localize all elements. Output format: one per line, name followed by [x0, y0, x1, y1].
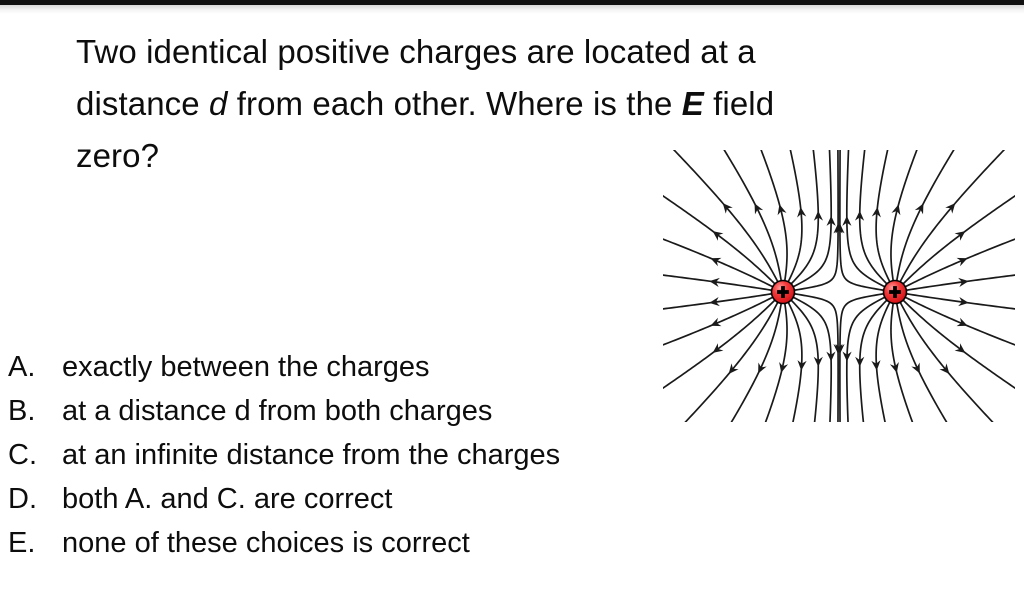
answer-choice-a[interactable]: A. exactly between the charges	[8, 345, 708, 389]
choice-text-d: both A. and C. are correct	[62, 477, 392, 521]
choice-text-c: at an infinite distance from the charges	[62, 433, 560, 477]
field-line	[723, 150, 781, 280]
field-line	[847, 150, 885, 287]
question-line-2-part-2: from each other. Where is the	[227, 85, 681, 122]
question-line-2: distance d from each other. Where is the…	[76, 78, 956, 130]
field-line	[897, 150, 955, 280]
positive-charge-left	[772, 281, 795, 304]
field-arrow-head	[911, 362, 924, 375]
choice-letter-c: C.	[8, 433, 62, 477]
field-arrow-head	[892, 203, 904, 215]
answer-choice-e[interactable]: E. none of these choices is correct	[8, 521, 708, 565]
field-line	[891, 150, 918, 280]
variable-E: E	[682, 85, 704, 122]
choice-text-b: at a distance d from both charges	[62, 389, 492, 433]
field-arrow-head	[750, 201, 763, 214]
slide-canvas: Two identical positive charges are locat…	[0, 0, 1024, 597]
positive-charge-right	[884, 281, 907, 304]
field-line	[663, 300, 775, 389]
field-line	[900, 150, 1006, 281]
field-arrow-head	[754, 362, 767, 375]
answer-choice-d[interactable]: D. both A. and C. are correct	[8, 477, 708, 521]
field-arrow-head	[915, 201, 928, 214]
choice-text-e: none of these choices is correct	[62, 521, 470, 565]
field-line	[794, 297, 832, 422]
field-line	[672, 150, 778, 281]
electric-field-diagram	[663, 150, 1015, 422]
top-gradient-shade	[0, 5, 1024, 14]
field-arrow-head	[957, 254, 970, 266]
field-arrow-head	[709, 254, 722, 266]
question-line-2-part-1: distance	[76, 85, 209, 122]
field-line	[788, 150, 801, 281]
question-line-2-part-3: field	[704, 85, 774, 122]
field-line	[760, 150, 787, 280]
choice-letter-b: B.	[8, 389, 62, 433]
choice-letter-e: E.	[8, 521, 62, 565]
field-line	[794, 150, 832, 287]
answer-choice-b[interactable]: B. at a distance d from both charges	[8, 389, 708, 433]
field-arrow-head	[957, 318, 970, 330]
field-line	[876, 150, 889, 281]
field-arrow-head	[775, 203, 787, 215]
field-arrow-head	[709, 318, 722, 330]
choice-letter-d: D.	[8, 477, 62, 521]
variable-d: d	[209, 85, 227, 122]
answer-choice-list: A. exactly between the charges B. at a d…	[8, 345, 708, 565]
field-line	[847, 297, 885, 422]
choice-letter-a: A.	[8, 345, 62, 389]
field-lines-group	[663, 150, 1015, 422]
question-line-1: Two identical positive charges are locat…	[76, 26, 956, 78]
field-diagram-svg	[663, 150, 1015, 422]
choice-text-a: exactly between the charges	[62, 345, 430, 389]
answer-choice-c[interactable]: C. at an infinite distance from the char…	[8, 433, 708, 477]
field-line	[903, 300, 1015, 389]
